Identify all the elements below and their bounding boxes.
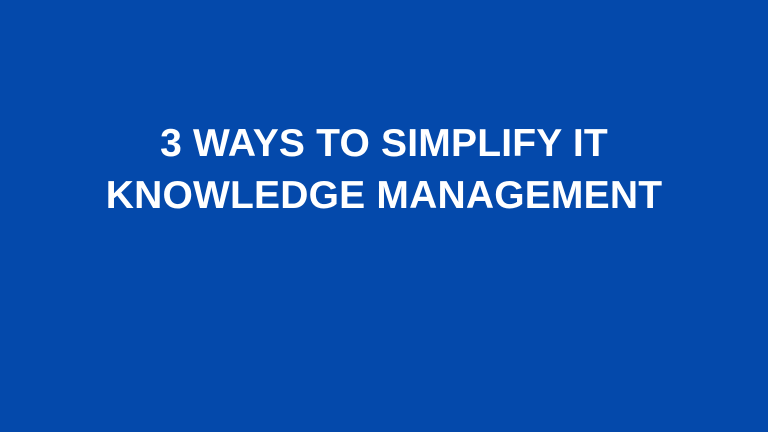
headline-line-1: 3 WAYS TO SIMPLIFY IT bbox=[0, 118, 768, 170]
headline-line-2: KNOWLEDGE MANAGEMENT bbox=[0, 170, 768, 222]
headline-block: 3 WAYS TO SIMPLIFY IT KNOWLEDGE MANAGEME… bbox=[0, 118, 768, 222]
title-card: 3 WAYS TO SIMPLIFY IT KNOWLEDGE MANAGEME… bbox=[0, 0, 768, 432]
